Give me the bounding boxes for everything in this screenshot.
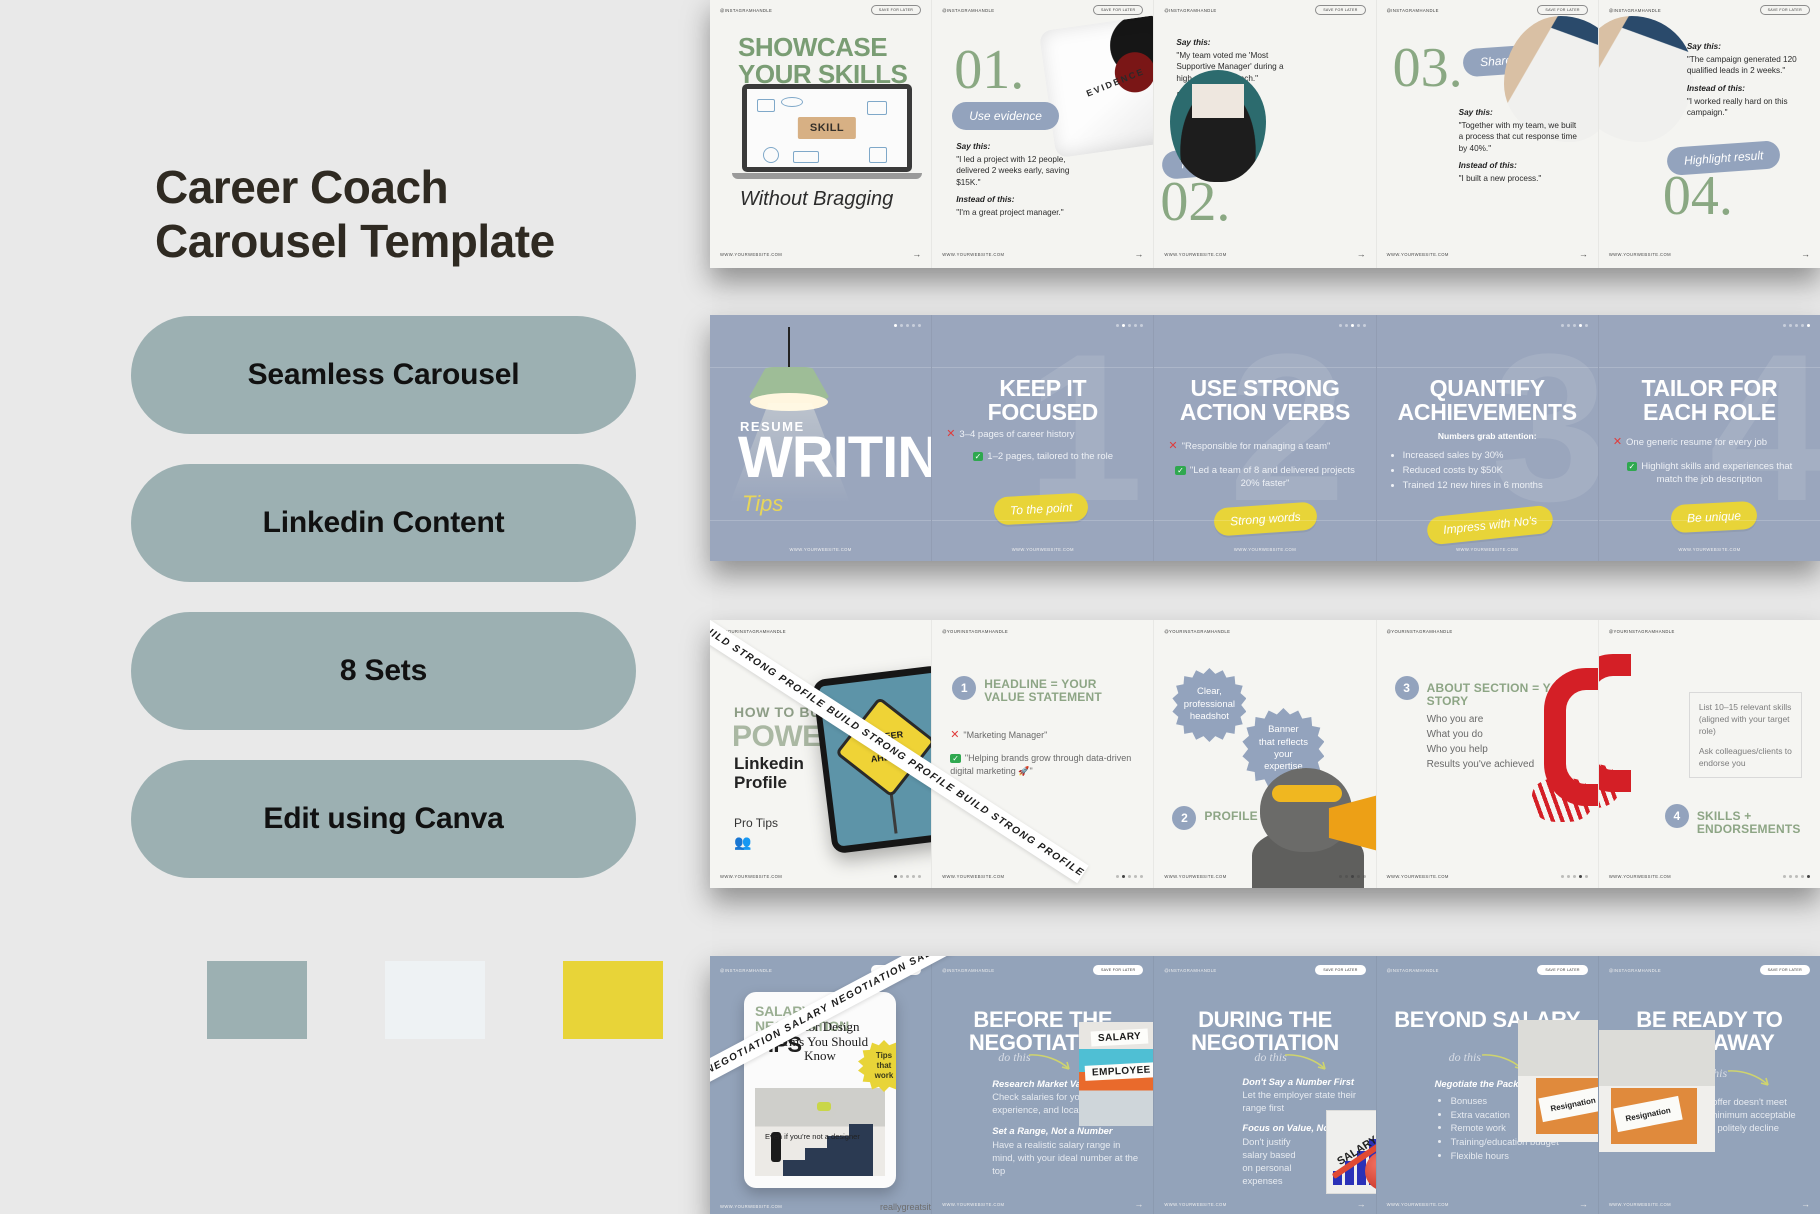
- tip-text: Have a realistic salary range in mind, w…: [992, 1139, 1141, 1178]
- website-url: WWW.YOURWEBSITE.COM: [942, 252, 1004, 257]
- slide-note: Numbers grab attention:: [1391, 431, 1584, 441]
- say-this-label: Say this:: [1459, 108, 1579, 117]
- website-url: WWW.YOURWEBSITE.COM: [942, 1202, 1004, 1207]
- do-this-script: do this: [1254, 1050, 1286, 1065]
- instead-text: "I worked really hard on this campaign.": [1687, 96, 1807, 119]
- bad-example-row: ✕3–4 pages of career history: [946, 427, 1139, 442]
- slide-header: [1164, 324, 1365, 327]
- slide-number: 01.: [954, 42, 1024, 98]
- tip-label: Set a Range, Not a Number: [992, 1125, 1112, 1136]
- next-arrow-icon[interactable]: →: [1579, 250, 1588, 259]
- slide-header: @INSTAGRAMHANDLE SAVE FOR LATER: [942, 5, 1143, 15]
- cross-icon: ✕: [1168, 440, 1177, 452]
- say-this-text: "The campaign generated 120 qualified le…: [1687, 54, 1807, 77]
- good-example-text: 1–2 pages, tailored to the role: [987, 451, 1113, 462]
- next-arrow-icon[interactable]: →: [1801, 250, 1810, 259]
- website-url: WWW.YOURWEBSITE.COM: [1609, 252, 1671, 257]
- slide-footer: WWW.YOURWEBSITE.COM →: [1609, 1200, 1810, 1209]
- slide-dots: [1116, 324, 1143, 327]
- slide-during-negotiation: @INSTAGRAMHANDLE SAVE FOR LATER DURING T…: [1154, 956, 1376, 1214]
- red-phone-image: [1538, 668, 1599, 818]
- slide-04: @INSTAGRAMHANDLE SAVE FOR LATER Say this…: [1599, 0, 1820, 268]
- slide-footer: WWW.YOURWEBSITE.COM: [720, 1204, 921, 1209]
- bad-example-row: ✕"Marketing Manager": [950, 728, 1139, 743]
- slide-strong-verbs: 2 USE STRONG ACTION VERBS ✕"Responsible …: [1154, 315, 1376, 561]
- website-url: WWW.YOURWEBSITE.COM: [1387, 252, 1449, 257]
- slide-dots: [1561, 875, 1588, 878]
- slide-beyond-salary: @INSTAGRAMHANDLE SAVE FOR LATER BEYOND S…: [1377, 956, 1599, 1214]
- resignation-photo: Resignation: [1518, 1020, 1599, 1142]
- step-number: 2: [1172, 806, 1196, 830]
- instead-text: "I built a new process.": [1459, 173, 1579, 184]
- cross-icon: ✕: [946, 428, 955, 440]
- slide-dots: [1783, 324, 1810, 327]
- pill-linkedin-content[interactable]: Linkedin Content: [131, 464, 636, 582]
- bullet-item: Flexible hours: [1451, 1149, 1590, 1163]
- slide-walk-away: @INSTAGRAMHANDLE SAVE FOR LATER BE READY…: [1599, 956, 1820, 1214]
- pill-label: 8 Sets: [340, 654, 427, 688]
- slide-skills-endorsements: @YOURINSTAGRAMHANDLE List 10–15 relevant…: [1599, 620, 1820, 888]
- say-this-text: "Together with my team, we built a proce…: [1459, 120, 1579, 154]
- step-number: 4: [1665, 804, 1689, 828]
- website-url: WWW.YOURWEBSITE.COM: [720, 252, 782, 257]
- do-this-script: do this: [998, 1050, 1030, 1065]
- slide-footer: WWW.YOURWEBSITE.COM: [942, 547, 1143, 552]
- cover-title: Linkedin Profile: [734, 754, 804, 792]
- desk-photo: [1599, 16, 1693, 142]
- slide-footer: WWW.YOURWEBSITE.COM →: [1387, 1200, 1588, 1209]
- slide-dots: [894, 875, 921, 878]
- check-icon: ✓: [1175, 466, 1186, 475]
- slide-header: @YOURINSTAGRAMHANDLE: [1164, 629, 1365, 634]
- save-badge: SAVE FOR LATER: [1315, 5, 1365, 15]
- slide-heading: DURING THE NEGOTIATION: [1168, 1008, 1361, 1054]
- slide-dots: [894, 324, 921, 327]
- next-arrow-icon[interactable]: →: [1357, 250, 1366, 259]
- do-this-script: do this: [1449, 1050, 1481, 1065]
- slide-header: @INSTAGRAMHANDLE SAVE FOR LATER: [1609, 5, 1810, 15]
- slide-heading: USE STRONG ACTION VERBS: [1168, 377, 1361, 424]
- next-arrow-icon[interactable]: →: [912, 250, 921, 259]
- save-badge: SAVE FOR LATER: [1537, 5, 1587, 15]
- slide-03: @INSTAGRAMHANDLE SAVE FOR LATER 03. Shar…: [1377, 0, 1599, 268]
- slide-cover: @INSTAGRAMHANDLE SAVE FOR LATER SALARY N…: [710, 956, 932, 1214]
- save-badge: SAVE FOR LATER: [1315, 965, 1365, 975]
- instead-label: Instead of this:: [1687, 84, 1807, 93]
- bad-example-row: ✕"Responsible for managing a team": [1168, 439, 1361, 454]
- step-number: 3: [1395, 676, 1419, 700]
- slide-header: @INSTAGRAMHANDLE SAVE FOR LATER: [1164, 5, 1365, 15]
- instagram-handle: @YOURINSTAGRAMHANDLE: [1609, 629, 1675, 634]
- laptop-illustration: SKILL: [732, 84, 922, 180]
- slide-before-negotiation: @INSTAGRAMHANDLE SAVE FOR LATER BEFORE T…: [932, 956, 1154, 1214]
- slide-header: @INSTAGRAMHANDLE SAVE FOR LATER: [1609, 965, 1810, 975]
- instagram-handle: @INSTAGRAMHANDLE: [1164, 8, 1216, 13]
- slide-header: @YOURINSTAGRAMHANDLE: [942, 629, 1143, 634]
- carousel-panel-linkedin-profile[interactable]: @YOURINSTAGRAMHANDLE HOW TO BUILD POWERF…: [710, 620, 1820, 888]
- cat-megaphone-image: [1246, 738, 1377, 888]
- website-url: WWW.YOURWEBSITE.COM: [1387, 874, 1449, 879]
- curved-arrow-icon: [1028, 1052, 1074, 1074]
- about-line: What you do: [1427, 727, 1535, 742]
- website-url: WWW.YOURWEBSITE.COM: [720, 1204, 782, 1209]
- slide-heading: HEADLINE = YOUR VALUE STATEMENT: [984, 678, 1139, 705]
- slide-heading: TAILOR FOR EACH ROLE: [1613, 377, 1806, 424]
- instagram-handle: @INSTAGRAMHANDLE: [1609, 8, 1661, 13]
- slide-footer: WWW.YOURWEBSITE.COM →: [942, 1200, 1143, 1209]
- bad-example-text: "Marketing Manager": [963, 730, 1047, 740]
- bad-example-row: ✕One generic resume for every job: [1613, 435, 1806, 450]
- slide-quantify: 3 QUANTIFY ACHIEVEMENTS Numbers grab att…: [1377, 315, 1599, 561]
- website-url: WWW.YOURWEBSITE.COM: [1678, 547, 1740, 552]
- good-example-text: Highlight skills and experiences that ma…: [1641, 461, 1792, 485]
- slide-footer: WWW.YOURWEBSITE.COM: [1609, 874, 1810, 879]
- slide-header: @INSTAGRAMHANDLE SAVE FOR LATER: [1164, 965, 1365, 975]
- save-badge: SAVE FOR LATER: [1093, 5, 1143, 15]
- puzzle-image: EVIDENCE: [1039, 14, 1154, 159]
- website-url: WWW.YOURWEBSITE.COM: [1609, 1202, 1671, 1207]
- swatch-yellow: [563, 961, 663, 1039]
- instagram-handle: @YOURINSTAGRAMHANDLE: [1387, 629, 1453, 634]
- skill-tag-label: SKILL: [798, 117, 856, 139]
- bad-example-text: 3–4 pages of career history: [959, 429, 1074, 440]
- check-icon: ✓: [973, 452, 984, 461]
- slide-footer: WWW.YOURWEBSITE.COM: [1609, 547, 1810, 552]
- pill-label: Edit using Canva: [263, 802, 503, 836]
- skills-line-1: List 10–15 relevant skills (aligned with…: [1699, 701, 1792, 737]
- instagram-handle: @INSTAGRAMHANDLE: [720, 8, 772, 13]
- slide-dots: [1783, 875, 1810, 878]
- salary-employee-photo: SALARY EMPLOYEE: [1079, 1022, 1154, 1126]
- instagram-handle: @INSTAGRAMHANDLE: [1387, 8, 1439, 13]
- slide-footer: WWW.YOURWEBSITE.COM: [1387, 874, 1588, 879]
- pill-label: Linkedin Content: [263, 506, 505, 540]
- next-arrow-icon[interactable]: →: [1134, 1200, 1143, 1209]
- left-sidebar: Career Coach Carousel Template Seamless …: [0, 0, 712, 1214]
- swatch-sage-blue: [207, 961, 307, 1039]
- swatch-off-white: [385, 961, 485, 1039]
- about-line: Who you help: [1427, 742, 1535, 757]
- about-line: Results you've achieved: [1427, 757, 1535, 772]
- feature-pill-list: Seamless Carousel Linkedin Content 8 Set…: [131, 316, 636, 908]
- instead-text: "I'm a great project manager.": [956, 207, 1076, 218]
- slide-dots: [1339, 324, 1366, 327]
- skills-box: List 10–15 relevant skills (aligned with…: [1689, 692, 1802, 778]
- slide-header: [1387, 324, 1588, 327]
- check-icon: ✓: [1627, 462, 1638, 471]
- save-badge: SAVE FOR LATER: [1760, 5, 1810, 15]
- about-lines: Who you are What you do Who you help Res…: [1427, 712, 1535, 772]
- slide-footer: WWW.YOURWEBSITE.COM: [1164, 874, 1365, 879]
- slide-heading: KEEP IT FOCUSED: [946, 377, 1139, 424]
- next-arrow-icon[interactable]: →: [1579, 1200, 1588, 1209]
- instagram-handle: @YOURINSTAGRAMHANDLE: [942, 629, 1008, 634]
- page-title: Career Coach Carousel Template: [155, 160, 635, 269]
- instagram-handle: @INSTAGRAMHANDLE: [942, 8, 994, 13]
- slide-header: @YOURINSTAGRAMHANDLE: [1387, 629, 1588, 634]
- achievement-bullets: Increased sales by 30% Reduced costs by …: [1403, 449, 1584, 493]
- carousel-panel-resume-writing[interactable]: RESUME WRITING Tips WWW.YOURWEBSITE.COM …: [710, 315, 1820, 561]
- cover-title: WRITING: [738, 429, 932, 487]
- slide-footer: WWW.YOURWEBSITE.COM →: [942, 250, 1143, 259]
- good-example-text: "Led a team of 8 and delivered projects …: [1190, 465, 1355, 489]
- slide-heading: QUANTIFY ACHIEVEMENTS: [1391, 377, 1584, 424]
- slide-number: 04.: [1663, 168, 1733, 224]
- cross-icon: ✕: [1613, 436, 1622, 448]
- pro-tips-label: Pro Tips: [734, 816, 778, 830]
- slide-keep-it-focused: 1 KEEP IT FOCUSED ✕3–4 pages of career h…: [932, 315, 1154, 561]
- good-example-row: ✓"Led a team of 8 and delivered projects…: [1168, 465, 1361, 491]
- curved-arrow-icon: [1727, 1068, 1773, 1090]
- slide-dots: [1339, 875, 1366, 878]
- cover-subtitle: Without Bragging: [740, 188, 893, 211]
- slide-heading: SKILLS + ENDORSEMENTS: [1697, 810, 1820, 837]
- save-badge: SAVE FOR LATER: [1760, 965, 1810, 975]
- slide-header: @INSTAGRAMHANDLE SAVE FOR LATER: [942, 965, 1143, 975]
- book-illustration: Even if you're not a designer: [755, 1088, 885, 1176]
- slide-footer: WWW.YOURWEBSITE.COM →: [1609, 250, 1810, 259]
- website-url: WWW.YOURWEBSITE.COM: [1012, 547, 1074, 552]
- pill-seamless-carousel[interactable]: Seamless Carousel: [131, 316, 636, 434]
- website-url: WWW.YOURWEBSITE.COM: [1234, 547, 1296, 552]
- slide-header: @YOURINSTAGRAMHANDLE: [720, 629, 921, 634]
- bullet-item: Trained 12 new hires in 6 months: [1403, 479, 1584, 493]
- bad-example-text: "Responsible for managing a team": [1182, 441, 1331, 452]
- ghost-number: 2: [1229, 323, 1346, 533]
- instead-label: Instead of this:: [1459, 161, 1579, 170]
- tip-button: Be unique: [1670, 501, 1757, 533]
- photo-label: EMPLOYEE: [1085, 1062, 1154, 1081]
- slide-number: 03.: [1393, 40, 1463, 96]
- resignation-photo: Resignation: [1599, 1030, 1715, 1152]
- slide-header: @INSTAGRAMHANDLE SAVE FOR LATER: [1387, 5, 1588, 15]
- next-arrow-icon[interactable]: →: [1134, 250, 1143, 259]
- slide-header: [1609, 324, 1810, 327]
- burst-headshot: Clear, professional headshot: [1172, 668, 1246, 742]
- slide-header: [942, 324, 1143, 327]
- slide-dots: [1116, 875, 1143, 878]
- website-url: WWW.YOURWEBSITE.COM: [1456, 547, 1518, 552]
- slide-dots: [1561, 324, 1588, 327]
- pill-edit-using-canva[interactable]: Edit using Canva: [131, 760, 636, 878]
- save-badge: SAVE FOR LATER: [1093, 965, 1143, 975]
- people-icon: 👥: [734, 834, 751, 851]
- good-example-row: ✓"Helping brands grow through data-drive…: [950, 752, 1139, 777]
- carousel-preview-area: @INSTAGRAMHANDLE SAVE FOR LATER SHOWCASE…: [700, 0, 1820, 1214]
- good-example-row: ✓Highlight skills and experiences that m…: [1613, 461, 1806, 487]
- bullet-item: Reduced costs by $50K: [1403, 464, 1584, 478]
- salary-chart-photo: SALARY: [1326, 1110, 1377, 1194]
- carousel-panel-showcase-skills[interactable]: @INSTAGRAMHANDLE SAVE FOR LATER SHOWCASE…: [710, 0, 1820, 268]
- ghost-number: 3: [1491, 323, 1599, 533]
- slide-footer: WWW.YOURWEBSITE.COM →: [720, 250, 921, 259]
- say-this-block: Say this: "The campaign generated 120 qu…: [1687, 42, 1807, 125]
- website-url: WWW.YOURWEBSITE.COM: [1609, 874, 1671, 879]
- slide-profile-photo: @YOURINSTAGRAMHANDLE Clear, professional…: [1154, 620, 1376, 888]
- tips-badge-text: Tips that work: [875, 1051, 894, 1081]
- curved-arrow-icon: [1284, 1052, 1330, 1074]
- slide-footer: WWW.YOURWEBSITE.COM →: [1164, 1200, 1365, 1209]
- slide-footer: WWW.YOURWEBSITE.COM: [1387, 547, 1588, 552]
- instead-label: Instead of this:: [956, 195, 1076, 204]
- lamp-cord-icon: [788, 327, 790, 369]
- bad-example-text: One generic resume for every job: [1626, 437, 1767, 448]
- about-line: Who you are: [1427, 712, 1535, 727]
- website-url: WWW.YOURWEBSITE.COM: [1387, 1202, 1449, 1207]
- slide-header: @INSTAGRAMHANDLE SAVE FOR LATER: [1387, 965, 1588, 975]
- slide-number: 02.: [1160, 174, 1230, 230]
- slide-about-section: @YOURINSTAGRAMHANDLE 3 ABOUT SECTION = Y…: [1377, 620, 1599, 888]
- slide-header: @YOURINSTAGRAMHANDLE: [1609, 629, 1810, 634]
- slide-02: @INSTAGRAMHANDLE SAVE FOR LATER Say this…: [1154, 0, 1376, 268]
- save-badge: SAVE FOR LATER: [871, 5, 921, 15]
- next-arrow-icon[interactable]: →: [1357, 1200, 1366, 1209]
- red-phone-image: [1599, 654, 1651, 804]
- check-icon: ✓: [950, 754, 961, 763]
- slide-cover: RESUME WRITING Tips WWW.YOURWEBSITE.COM: [710, 315, 932, 561]
- slide-cover: @INSTAGRAMHANDLE SAVE FOR LATER SHOWCASE…: [710, 0, 932, 268]
- typewriter-image: [1170, 70, 1266, 182]
- carousel-panel-salary-negotiation[interactable]: @INSTAGRAMHANDLE SAVE FOR LATER SALARY N…: [710, 956, 1820, 1214]
- photo-label: SALARY: [1091, 1029, 1149, 1047]
- tip-chip: Use evidence: [952, 102, 1059, 130]
- good-example-text: "Helping brands grow through data-driven…: [950, 753, 1131, 776]
- skills-line-2: Ask colleagues/clients to endorse you: [1699, 745, 1792, 769]
- pill-8-sets[interactable]: 8 Sets: [131, 612, 636, 730]
- slide-footer: WWW.YOURWEBSITE.COM: [942, 874, 1143, 879]
- slide-footer: WWW.YOURWEBSITE.COM →: [1387, 250, 1588, 259]
- cover-title: SHOWCASE YOUR SKILLS: [738, 34, 907, 87]
- instagram-handle: @INSTAGRAMHANDLE: [1387, 968, 1439, 973]
- instagram-handle: @YOURINSTAGRAMHANDLE: [1164, 629, 1230, 634]
- tip-label: Don't Say a Number First: [1242, 1076, 1354, 1087]
- slide-header: @INSTAGRAMHANDLE SAVE FOR LATER: [720, 5, 921, 15]
- cross-icon: ✕: [950, 729, 959, 741]
- slide-01: @INSTAGRAMHANDLE SAVE FOR LATER 01. EVID…: [932, 0, 1154, 268]
- pill-label: Seamless Carousel: [248, 358, 520, 392]
- color-palette: [207, 961, 663, 1039]
- website-url: WWW.YOURWEBSITE.COM: [1164, 252, 1226, 257]
- say-this-label: Say this:: [1176, 38, 1296, 47]
- say-this-block: Say this: "Together with my team, we bui…: [1459, 108, 1579, 191]
- slide-footer: WWW.YOURWEBSITE.COM: [720, 547, 921, 552]
- say-this-label: Say this:: [956, 142, 1076, 151]
- book-subtext: Even if you're not a designer: [765, 1132, 875, 1141]
- tip-text: Don't justify salary based on personal e…: [1242, 1136, 1305, 1188]
- good-example-row: ✓1–2 pages, tailored to the role: [946, 451, 1139, 464]
- say-this-label: Say this:: [1687, 42, 1807, 51]
- slide-footer: WWW.YOURWEBSITE.COM →: [1164, 250, 1365, 259]
- website-url: WWW.YOURWEBSITE.COM: [1164, 1202, 1226, 1207]
- say-this-block: Say this: "I led a project with 12 peopl…: [956, 142, 1076, 225]
- instagram-handle: @INSTAGRAMHANDLE: [942, 968, 994, 973]
- puzzle-word-label: EVIDENCE: [1086, 66, 1147, 99]
- next-arrow-icon[interactable]: →: [1801, 1200, 1810, 1209]
- slide-tailor-role: 4 TAILOR FOR EACH ROLE ✕One generic resu…: [1599, 315, 1820, 561]
- burst-text: Clear, professional headshot: [1184, 686, 1235, 723]
- slide-footer: WWW.YOURWEBSITE.COM: [720, 874, 921, 879]
- instagram-handle: @INSTAGRAMHANDLE: [1609, 968, 1661, 973]
- website-url: WWW.YOURWEBSITE.COM: [1164, 874, 1226, 879]
- slide-header: [720, 324, 921, 327]
- cover-subtitle: Tips: [742, 491, 783, 517]
- website-url: WWW.YOURWEBSITE.COM: [942, 874, 1004, 879]
- website-url: WWW.YOURWEBSITE.COM: [720, 874, 782, 879]
- say-this-text: "I led a project with 12 people, deliver…: [956, 154, 1076, 188]
- instagram-handle: @INSTAGRAMHANDLE: [1164, 968, 1216, 973]
- instagram-handle: @INSTAGRAMHANDLE: [720, 968, 772, 973]
- slide-footer: WWW.YOURWEBSITE.COM: [1164, 547, 1365, 552]
- bullet-item: Increased sales by 30%: [1403, 449, 1584, 463]
- save-badge: SAVE FOR LATER: [1537, 965, 1587, 975]
- step-number: 1: [952, 676, 976, 700]
- website-url: WWW.YOURWEBSITE.COM: [790, 547, 852, 552]
